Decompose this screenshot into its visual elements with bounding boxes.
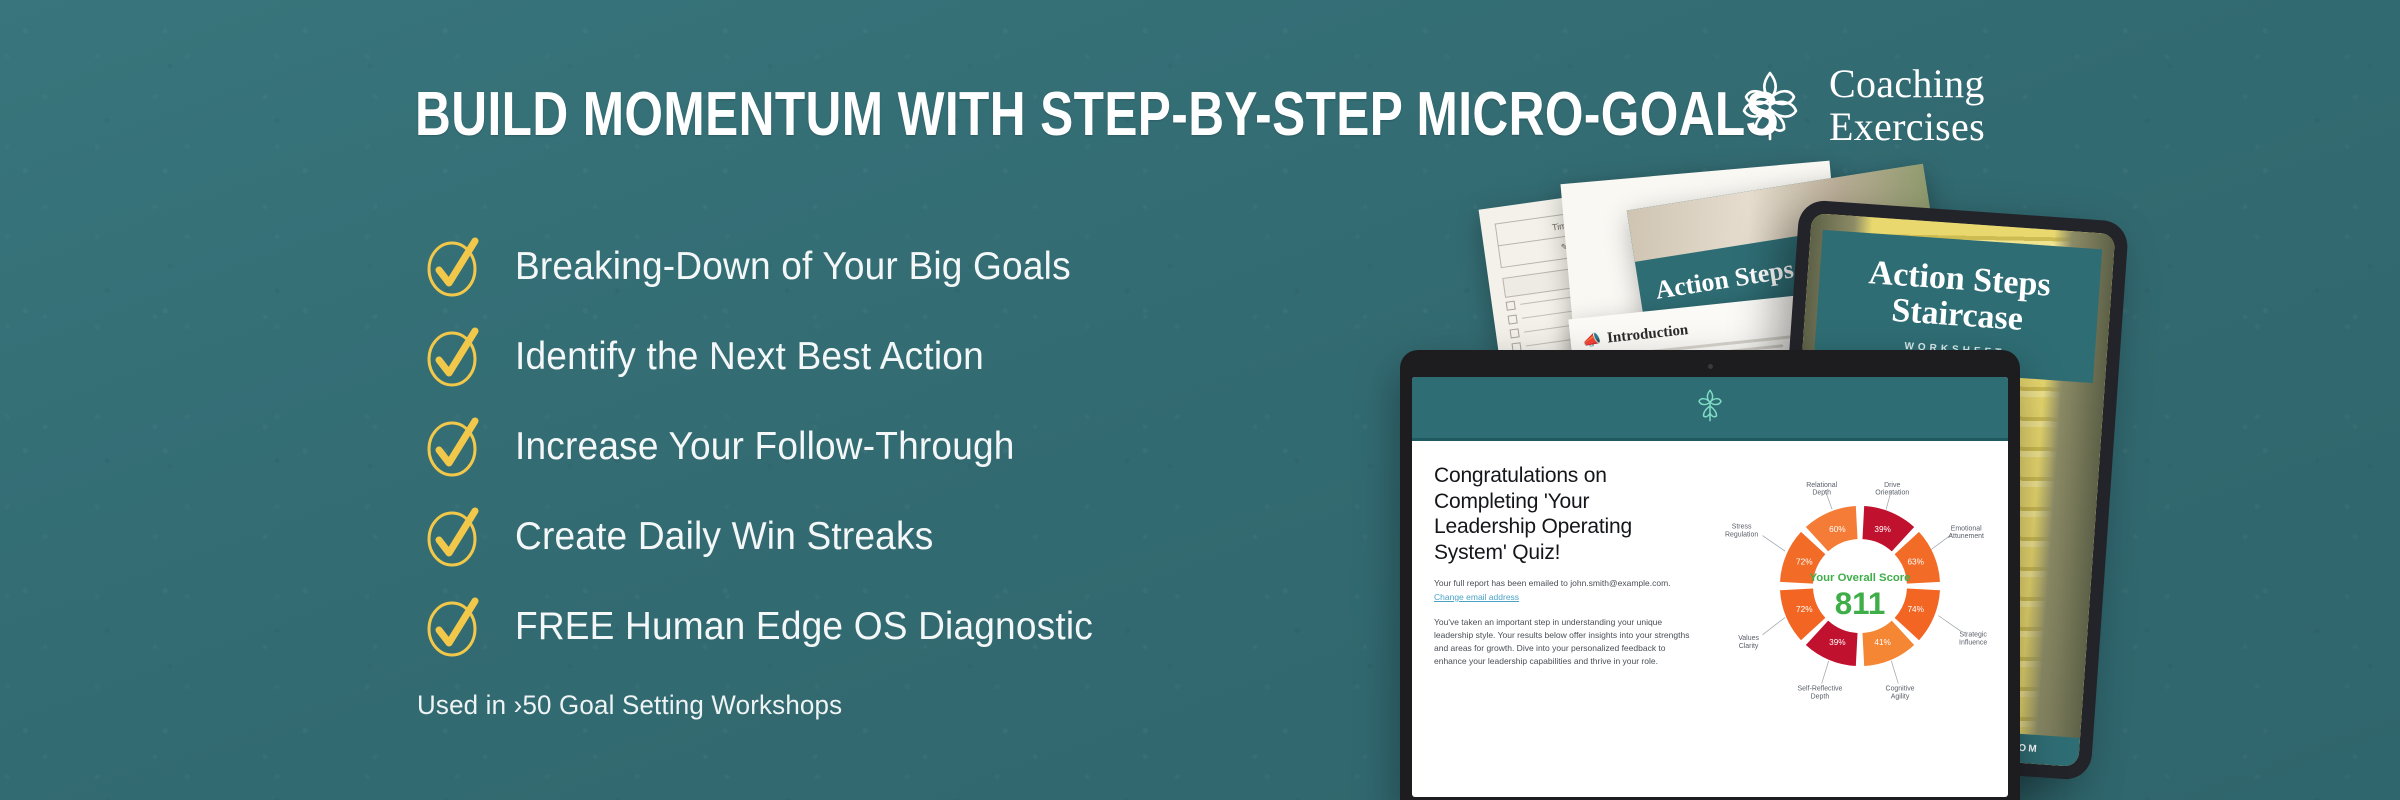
- donut-value-label: 72%: [1796, 557, 1813, 566]
- check-circle-icon: [415, 229, 491, 305]
- megaphone-icon: 📣: [1582, 330, 1603, 351]
- laptop-lid: Congratulations on Completing 'Your Lead…: [1400, 350, 2020, 800]
- donut-value-label: 72%: [1796, 605, 1813, 614]
- tablet-title-line-2: Staircase: [1890, 292, 2024, 338]
- benefits-list: Breaking-Down of Your Big Goals Identify…: [415, 222, 1123, 672]
- donut-category-label: EmotionalAttunement: [1948, 525, 1984, 540]
- donut-value-label: 74%: [1907, 605, 1924, 614]
- list-item-label: Create Daily Win Streaks: [515, 515, 933, 559]
- lotus-leaf-icon: [1693, 386, 1727, 429]
- checkbox-icon: [1508, 314, 1518, 324]
- checkbox-icon: [1510, 328, 1520, 338]
- list-item: Breaking-Down of Your Big Goals: [415, 222, 1123, 312]
- chart-center-value: 811: [1835, 586, 1886, 621]
- list-item-label: FREE Human Edge OS Diagnostic: [515, 605, 1093, 649]
- donut-value-label: 39%: [1874, 525, 1891, 534]
- results-body-text: You've taken an important step in unders…: [1434, 616, 1696, 669]
- donut-value-label: 60%: [1829, 525, 1846, 534]
- check-circle-icon: [415, 589, 491, 665]
- results-chart-column: 39% 63% 74% 41% 39% 72% 72% 60% Your: [1712, 457, 2008, 759]
- list-item: Identify the Next Best Action: [415, 312, 1123, 402]
- list-item-label: Increase Your Follow-Through: [515, 425, 1015, 469]
- list-item: Create Daily Win Streaks: [415, 492, 1123, 582]
- email-notice: Your full report has been emailed to joh…: [1434, 577, 1696, 603]
- webcam-icon: [1708, 364, 1713, 369]
- list-item: Increase Your Follow-Through: [415, 402, 1123, 492]
- check-circle-icon: [415, 499, 491, 575]
- laptop-mockup: Congratulations on Completing 'Your Lead…: [1400, 350, 2030, 800]
- donut-category-label: StrategicInfluence: [1959, 632, 1987, 647]
- overall-score-donut-chart: 39% 63% 74% 41% 39% 72% 72% 60% Your: [1712, 457, 2008, 729]
- donut-category-label: CognitiveAgility: [1886, 686, 1915, 701]
- results-text-column: Congratulations on Completing 'Your Lead…: [1412, 457, 1712, 759]
- check-circle-icon: [415, 319, 491, 395]
- list-item: FREE Human Edge OS Diagnostic: [415, 582, 1123, 672]
- list-item-label: Identify the Next Best Action: [515, 335, 984, 379]
- checkbox-icon: [1506, 301, 1516, 311]
- list-item-label: Breaking-Down of Your Big Goals: [515, 245, 1071, 289]
- results-heading: Congratulations on Completing 'Your Lead…: [1434, 463, 1696, 565]
- donut-category-label: RelationalDepth: [1806, 482, 1837, 497]
- product-mockup-stack: Time ✎ Season A Action Steps Staircase: [1400, 0, 2400, 800]
- chart-center-title: Your Overall Score: [1810, 572, 1911, 584]
- donut-category-label: DriveOrientation: [1875, 482, 1909, 497]
- app-header: [1412, 377, 2008, 441]
- donut-category-label: ValuesClarity: [1738, 635, 1759, 650]
- donut-category-label: StressRegulation: [1725, 524, 1758, 539]
- laptop-screen: Congratulations on Completing 'Your Lead…: [1412, 377, 2008, 797]
- donut-value-label: 39%: [1829, 638, 1846, 647]
- check-circle-icon: [415, 409, 491, 485]
- email-notice-text: Your full report has been emailed to joh…: [1434, 578, 1671, 588]
- promo-banner: BUILD MOMENTUM WITH STEP-BY-STEP MICRO-G…: [0, 0, 2400, 800]
- donut-value-label: 63%: [1907, 557, 1924, 566]
- social-proof-text: Used in ›50 Goal Setting Workshops: [417, 690, 842, 721]
- donut-category-label: Self-ReflectiveDepth: [1798, 686, 1843, 701]
- donut-value-label: 41%: [1874, 638, 1891, 647]
- change-email-link[interactable]: Change email address: [1434, 592, 1519, 602]
- app-content: Congratulations on Completing 'Your Lead…: [1412, 441, 2008, 759]
